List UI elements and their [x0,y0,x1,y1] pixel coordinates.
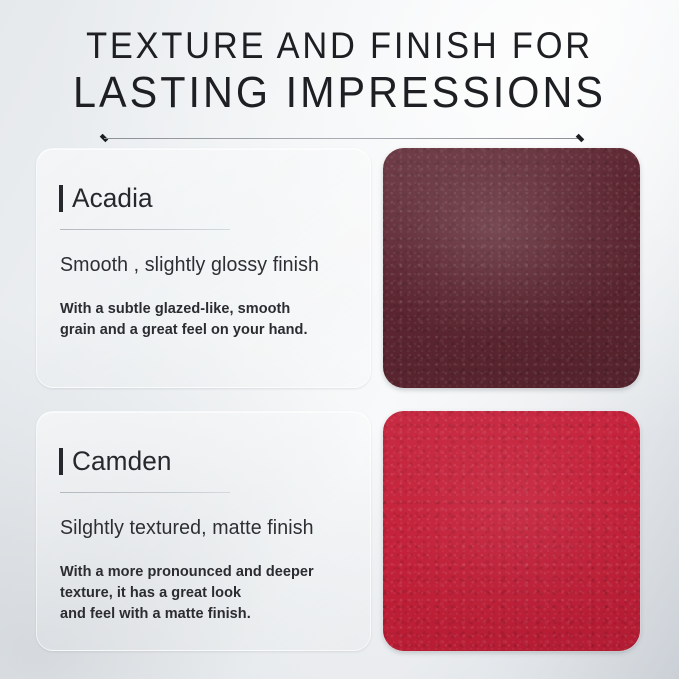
card-title-camden: Camden [72,446,172,476]
card-name-row: Camden [59,445,344,477]
divider-line [104,138,580,139]
card-name-row: Acadia [59,182,344,214]
page-background: TEXTURE AND FINISH FOR LASTING IMPRESSIO… [0,0,679,679]
card-content: Acadia Smooth , slightly glossy finish W… [37,149,370,341]
card-subtitle-camden: Silghtly textured, matte finish [60,516,338,541]
card-description-line: texture, it has a great look [60,583,344,604]
material-card-camden[interactable]: Camden Silghtly textured, matte finish W… [36,411,371,651]
card-content: Camden Silghtly textured, matte finish W… [37,412,370,625]
card-title-underline [60,492,230,493]
page-title: TEXTURE AND FINISH FOR LASTING IMPRESSIO… [0,24,679,119]
matte-sheen-overlay [383,411,640,651]
page-title-line-2: LASTING IMPRESSIONS [20,67,658,119]
card-description-line: grain and a great feel on your hand. [60,320,344,341]
glossy-sheen-overlay [383,148,640,388]
accent-bar-icon [59,185,63,212]
acadia-swatch[interactable] [383,148,640,388]
diamond-right-icon [576,134,585,143]
card-title-underline [60,229,230,230]
card-description-line: With a more pronounced and deeper [60,562,344,583]
card-description-acadia: With a subtle glazed-like, smooth grain … [60,299,344,341]
card-description-camden: With a more pronounced and deeper textur… [60,562,344,625]
card-subtitle-acadia: Smooth , slightly glossy finish [60,253,338,278]
page-title-line-1: TEXTURE AND FINISH FOR [24,24,655,67]
title-divider [100,137,584,140]
card-title-acadia: Acadia [72,183,153,213]
material-card-acadia[interactable]: Acadia Smooth , slightly glossy finish W… [36,148,371,388]
card-description-line: and feel with a matte finish. [60,604,344,625]
card-description-line: With a subtle glazed-like, smooth [60,299,344,320]
camden-swatch[interactable] [383,411,640,651]
accent-bar-icon [59,448,63,475]
